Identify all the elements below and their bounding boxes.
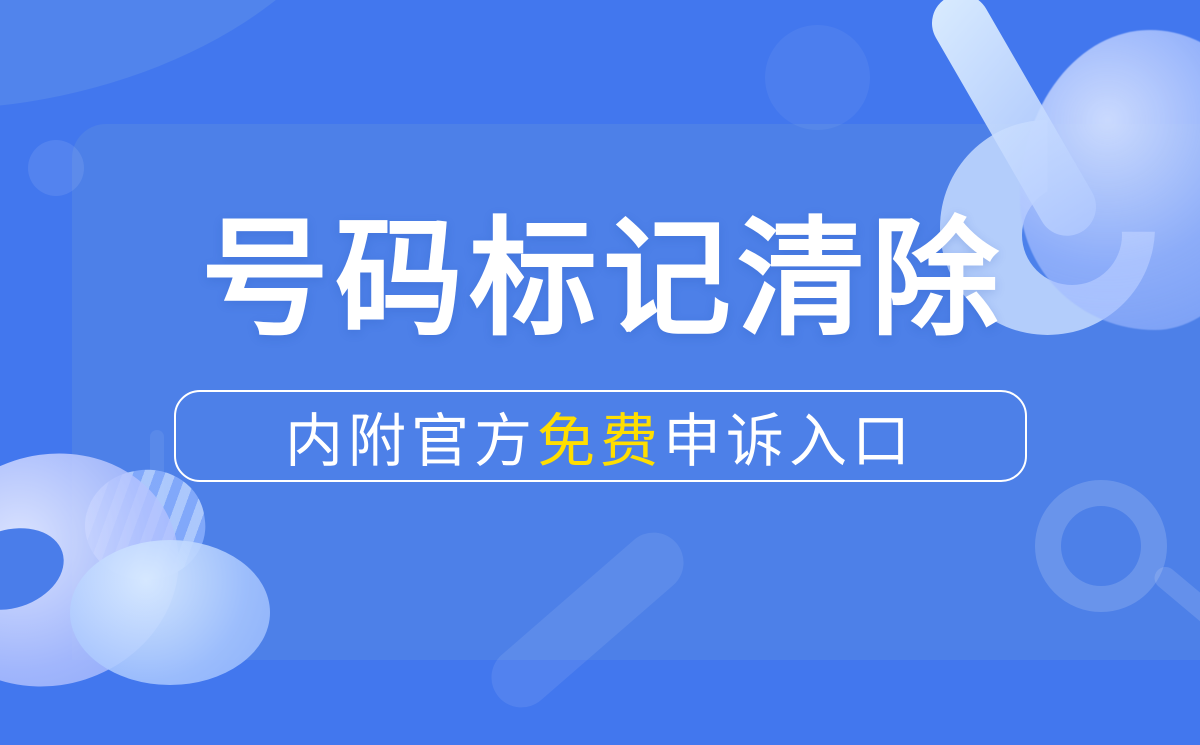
promo-banner: 号码标记清除 内附官方免费申诉入口 — [0, 0, 1200, 745]
subtitle-pill: 内附官方免费申诉入口 — [174, 390, 1027, 482]
subtitle-prefix: 内附官方 — [285, 409, 537, 474]
subtitle-suffix: 申诉入口 — [663, 409, 915, 474]
banner-headline: 号码标记清除 — [201, 215, 1005, 346]
banner-content: 号码标记清除 内附官方免费申诉入口 — [0, 0, 1200, 745]
banner-subtitle: 内附官方免费申诉入口 — [285, 394, 915, 478]
subtitle-highlight: 免费 — [537, 409, 663, 474]
